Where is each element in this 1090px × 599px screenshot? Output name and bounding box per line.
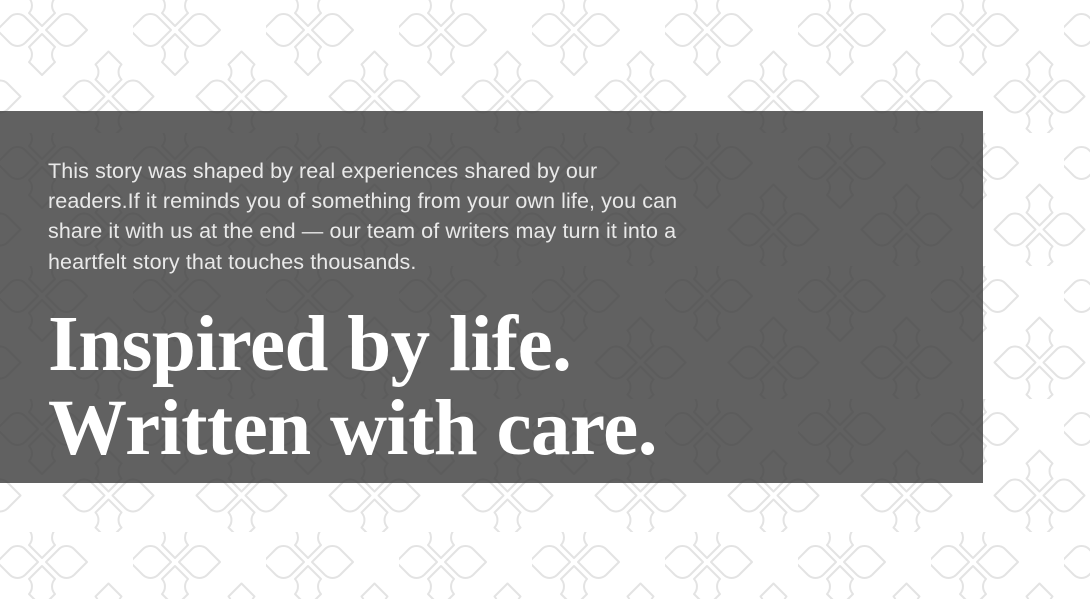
page-title: Inspired by life. Written with care. — [48, 277, 708, 471]
quote-panel: This story was shaped by real experience… — [0, 111, 983, 483]
intro-paragraph: This story was shaped by real experience… — [48, 156, 693, 277]
panel-inner: This story was shaped by real experience… — [48, 156, 708, 471]
poster-canvas: This story was shaped by real experience… — [0, 0, 1090, 599]
